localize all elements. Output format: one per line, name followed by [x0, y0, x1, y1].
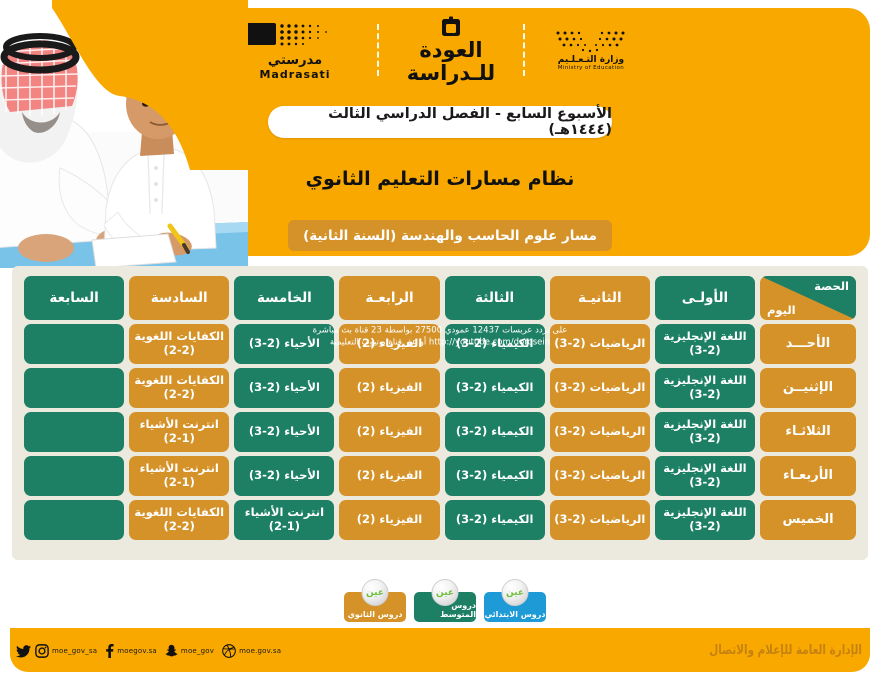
- logo-divider-1: [377, 24, 379, 76]
- period-header-6: السادسة: [129, 276, 229, 320]
- schedule-cell: الفيزياء (2): [339, 500, 439, 540]
- schedule-cell: الفيزياء (2): [339, 368, 439, 408]
- schedule-cell: الكفايات اللغوية (2-2): [129, 500, 229, 540]
- schedule-cell: الأحياء (2-3): [234, 368, 334, 408]
- table-row: الإثنيــن اللغة الإنجليزية (2-3) الرياضي…: [24, 368, 856, 408]
- corner-period-label: الحصة: [814, 279, 849, 293]
- channel-badges: عين دروس الثانوي عين دروس المتوسط عين در…: [340, 580, 550, 622]
- period-header-7: السابعة: [24, 276, 124, 320]
- schedule-cell: الكيمياء (2-3): [445, 412, 545, 452]
- schedule-poster: مدرستي Madrasati العودة للـدراسة: [0, 0, 880, 674]
- dribbble-icon: [222, 644, 236, 658]
- schedule-cell: الرياضيات (2-3): [550, 412, 650, 452]
- period-header-3: الثالثة: [445, 276, 545, 320]
- schedule-cell: الفيزياء (2): [339, 456, 439, 496]
- day-cell: الأحـــد: [760, 324, 856, 364]
- corner-header-cell: الحصة اليوم: [760, 276, 856, 320]
- page-title: نظام مسارات التعليم الثانوي: [240, 164, 640, 194]
- logo-divider-2: [523, 24, 525, 76]
- back-to-school-line2: للـدراسة: [407, 62, 495, 84]
- schedule-cell: انترنت الأشياء (1-2): [129, 456, 229, 496]
- social-links: moe_gov_sa moegov.sa moe_gov moe.gov.sa: [16, 641, 281, 661]
- corner-day-label: اليوم: [767, 303, 796, 317]
- facebook-icon: [105, 644, 114, 658]
- ministry-label-ar: وزارة التـعـلـيم: [558, 55, 624, 65]
- schedule-cell: انترنت الأشياء (1-2): [234, 500, 334, 540]
- schedule-cell: الأحياء (2-3): [234, 412, 334, 452]
- day-cell: الأربعـاء: [760, 456, 856, 496]
- schedule-cell: الرياضيات (2-3): [550, 456, 650, 496]
- schedule-cell: اللغة الإنجليزية (2-3): [655, 456, 755, 496]
- schedule-cell: اللغة الإنجليزية (2-3): [655, 324, 755, 364]
- table-header-row: الحصة اليوم الأولـى الثانيـة الثالثة الر…: [24, 276, 856, 320]
- day-cell: الخميس: [760, 500, 856, 540]
- social-twitter[interactable]: [16, 645, 31, 658]
- week-pill: الأسبوع السابع - الفصل الدراسي الثالث (١…: [268, 106, 612, 138]
- schedule-cell-empty: [24, 368, 124, 408]
- footer-text: على تردد عربسات 12437 عمودي 27500 بواسطة…: [313, 325, 568, 350]
- schedule-cell: الفيزياء (2): [339, 412, 439, 452]
- badge-label: دروس الثانوي: [348, 610, 403, 619]
- instagram-icon: [35, 644, 49, 658]
- badge-mutawasset[interactable]: عين دروس المتوسط: [414, 592, 476, 622]
- photo-illustration: [0, 0, 248, 268]
- schedule-cell-empty: [24, 324, 124, 364]
- schedule-cell: الكيمياء (2-3): [445, 456, 545, 496]
- badge-label: دروس الابتدائي: [485, 610, 546, 619]
- backpack-icon: [439, 16, 463, 38]
- ein-logo-icon: عين: [362, 579, 389, 606]
- schedule-table: الحصة اليوم الأولـى الثانيـة الثالثة الر…: [19, 272, 861, 544]
- back-to-school-line1: العودة: [407, 39, 495, 61]
- footer-line-2: http://youtube.com/dorosein أو عبر قناة …: [313, 337, 568, 349]
- schedule-cell-empty: [24, 456, 124, 496]
- schedule-cell: اللغة الإنجليزية (2-3): [655, 412, 755, 452]
- schedule-table-card: الحصة اليوم الأولـى الثانيـة الثالثة الر…: [12, 266, 868, 560]
- badge-thanawi[interactable]: عين دروس الثانوي: [344, 592, 406, 622]
- footer-line-2-ar: أو عبر قناة يوتيوب التعليمية: [330, 338, 426, 348]
- period-header-2: الثانيـة: [550, 276, 650, 320]
- social-instagram[interactable]: moe_gov_sa: [35, 644, 97, 658]
- period-header-4: الرابعـة: [339, 276, 439, 320]
- table-row: الأربعـاء اللغة الإنجليزية (2-3) الرياضي…: [24, 456, 856, 496]
- schedule-cell-empty: [24, 500, 124, 540]
- back-to-school-text: العودة للـدراسة: [407, 39, 495, 83]
- schedule-cell: اللغة الإنجليزية (2-3): [655, 500, 755, 540]
- day-cell: الإثنيــن: [760, 368, 856, 408]
- social-handle: moe_gov: [181, 647, 214, 655]
- ein-logo-icon: عين: [502, 579, 529, 606]
- social-dribbble[interactable]: moe.gov.sa: [222, 644, 281, 658]
- schedule-cell: الكيمياء (2-3): [445, 368, 545, 408]
- badge-ibtidai[interactable]: عين دروس الابتدائي: [484, 592, 546, 622]
- madrasati-mark-icon: [240, 19, 350, 53]
- schedule-cell: الكفايات اللغوية (2-2): [129, 324, 229, 364]
- madrasati-label-ar: مدرستي: [268, 53, 322, 68]
- teacher-student-photo: [0, 0, 248, 268]
- schedule-cell: الرياضيات (2-3): [550, 500, 650, 540]
- table-row: الخميس اللغة الإنجليزية (2-3) الرياضيات …: [24, 500, 856, 540]
- twitter-icon: [16, 645, 31, 658]
- day-cell: الثلاثـاء: [760, 412, 856, 452]
- ministry-mark-icon: [552, 29, 630, 55]
- ministry-logo: وزارة التـعـلـيم Ministry of Education: [552, 29, 630, 71]
- table-row: الثلاثـاء اللغة الإنجليزية (2-3) الرياضي…: [24, 412, 856, 452]
- footer-line-1: على تردد عربسات 12437 عمودي 27500 بواسطة…: [313, 325, 568, 337]
- social-handle: moegov.sa: [117, 647, 157, 655]
- footer-youtube-url[interactable]: http://youtube.com/dorosein: [429, 338, 550, 348]
- ein-logo-icon: عين: [432, 579, 459, 606]
- social-handle: moe_gov_sa: [52, 647, 97, 655]
- calligraphy-signature: الإدارة العامة للإعلام والاتصال: [709, 643, 862, 658]
- back-to-school-logo: العودة للـدراسة: [407, 16, 495, 83]
- madrasati-label-lat: Madrasati: [259, 68, 330, 81]
- snapchat-icon: [165, 644, 178, 658]
- schedule-cell: انترنت الأشياء (1-2): [129, 412, 229, 452]
- schedule-cell-empty: [24, 412, 124, 452]
- schedule-cell: الكفايات اللغوية (2-2): [129, 368, 229, 408]
- schedule-cell: الكيمياء (2-3): [445, 500, 545, 540]
- schedule-cell: الرياضيات (2-3): [550, 368, 650, 408]
- schedule-cell: اللغة الإنجليزية (2-3): [655, 368, 755, 408]
- social-handle: moe.gov.sa: [239, 647, 281, 655]
- ministry-label-en: Ministry of Education: [558, 65, 624, 71]
- corner-diagonal: الحصة اليوم: [760, 276, 856, 320]
- track-pill: مسار علوم الحاسب والهندسة (السنة الثانية…: [288, 220, 612, 251]
- social-snapchat[interactable]: moe_gov: [165, 644, 214, 658]
- logo-strip: مدرستي Madrasati العودة للـدراسة: [240, 14, 630, 86]
- schedule-cell: الأحياء (2-3): [234, 456, 334, 496]
- madrasati-logo: مدرستي Madrasati: [240, 19, 350, 81]
- period-header-1: الأولـى: [655, 276, 755, 320]
- period-header-5: الخامسة: [234, 276, 334, 320]
- social-facebook[interactable]: moegov.sa: [105, 644, 157, 658]
